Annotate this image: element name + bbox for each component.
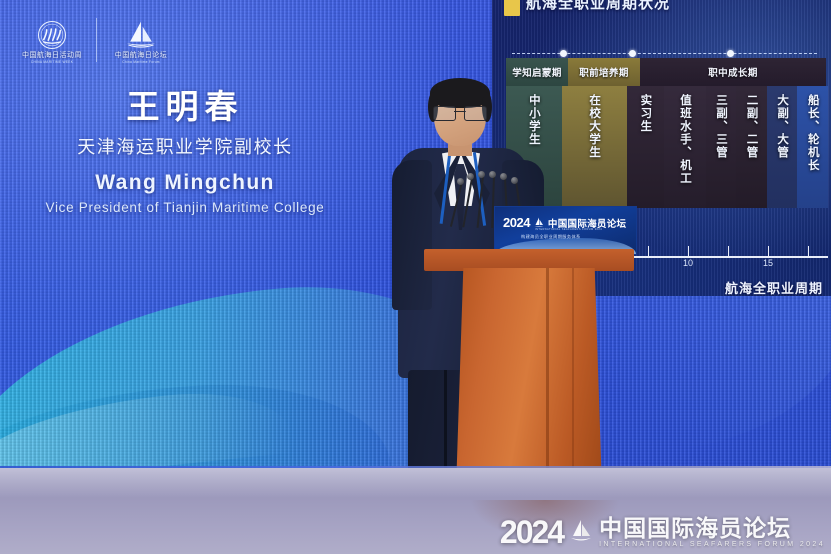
phase-block: 职前培养期 (568, 58, 640, 86)
speaker-title-en: Vice President of Tianjin Maritime Colle… (0, 200, 370, 215)
podium-body (456, 268, 602, 490)
slide-title: 航海全职业周期状况 (526, 0, 670, 13)
stage-column: 大副、大管 (767, 86, 798, 208)
speaker-arm-left (392, 160, 432, 310)
speaker-title-cn: 天津海运职业学院副校长 (0, 133, 370, 159)
slide-axis-caption: 航海全职业周期 (725, 278, 823, 296)
floor-sheen (0, 468, 831, 498)
logo-label-en: China Maritime Forum (105, 60, 177, 64)
speaker-name-cn: 王明春 (0, 86, 370, 127)
stage-label: 值班水手、机工 (677, 86, 693, 185)
watermark-name-cn: 中国国际海员论坛 (599, 516, 825, 540)
sailboat-icon (103, 18, 179, 52)
axis-tick-label: 15 (763, 258, 773, 268)
stage-column: 二副、二管 (736, 86, 767, 208)
speaker-hair (430, 78, 490, 108)
stage-label: 船长、轮机长 (805, 86, 821, 172)
podium-seam (572, 268, 574, 486)
slide-accent-block (504, 0, 520, 16)
timeline-node (560, 50, 567, 57)
timeline-dashed-line (512, 53, 817, 54)
podium-sign-subtitle: 构建海员全职业周期服务体系 (521, 234, 581, 240)
stage-label: 二副、二管 (744, 86, 760, 159)
podium-desktop (424, 249, 634, 271)
speaker-name-block: 王明春 天津海运职业学院副校长 Wang Mingchun Vice Presi… (0, 86, 370, 215)
phase-block: 职中成长期 (640, 58, 826, 86)
sailboat-icon (570, 519, 592, 545)
logo-divider (96, 18, 97, 62)
timeline-node (727, 50, 734, 57)
stage-label: 三副、三管 (713, 86, 729, 159)
watermark-text: 中国国际海员论坛 INTERNATIONAL SEAFARERS FORUM 2… (599, 516, 825, 548)
logo-china-maritime-forum: 中国航海日论坛 China Maritime Forum (103, 18, 179, 64)
timeline-node (629, 50, 636, 57)
logo-bar: 中国航海日活动周 CHINA MARITIME WEEK 中国航海日论坛 Chi… (14, 6, 184, 64)
stage-label: 在校大学生 (586, 86, 602, 159)
wave-emblem-icon (14, 18, 90, 52)
event-watermark: 2024 中国国际海员论坛 INTERNATIONAL SEAFARERS FO… (500, 516, 825, 548)
slide-stage-columns: 中小学生 在校大学生 实习生 值班水手、机工 三副、三管 二副、二管 大副、大管… (506, 86, 828, 208)
podium-sign-title-en: INTERNATIONAL SEAFARERS FORUM 2024 (535, 228, 602, 231)
speaker-name-en: Wang Mingchun (0, 171, 370, 195)
slide-timeline (512, 50, 817, 58)
logo-china-maritime-day: 中国航海日活动周 CHINA MARITIME WEEK (14, 18, 90, 64)
podium-seam (546, 268, 549, 486)
logo-label-cn: 中国航海日论坛 (103, 52, 179, 60)
logo-label-en: CHINA MARITIME WEEK (16, 60, 88, 64)
slide-title-row: 航海全职业周期状况 (504, 0, 670, 16)
sailboat-icon (534, 217, 544, 229)
stage-label: 大副、大管 (774, 86, 790, 159)
eyeglasses-icon (432, 106, 488, 119)
stage-column: 在校大学生 (562, 86, 627, 208)
podium-sign-year: 2024 (503, 215, 530, 230)
podium-sign: 2024 中国国际海员论坛 INTERNATIONAL SEAFARERS FO… (494, 206, 637, 255)
stage-column: 值班水手、机工 (664, 86, 705, 208)
slide-phase-row: 学知启蒙期 职前培养期 职中成长期 (506, 58, 826, 86)
stage-column: 船长、轮机长 (797, 86, 828, 208)
logo-label-cn: 中国航海日活动周 (14, 52, 90, 60)
stage-column: 实习生 (627, 86, 665, 208)
watermark-year: 2024 (500, 516, 563, 548)
conference-photo: 中国航海日活动周 CHINA MARITIME WEEK 中国航海日论坛 Chi… (0, 0, 831, 554)
axis-tick-label: 10 (683, 258, 693, 268)
watermark-name-en: INTERNATIONAL SEAFARERS FORUM 2024 (599, 541, 825, 548)
stage-label: 实习生 (637, 86, 653, 133)
stage-column: 三副、三管 (706, 86, 737, 208)
